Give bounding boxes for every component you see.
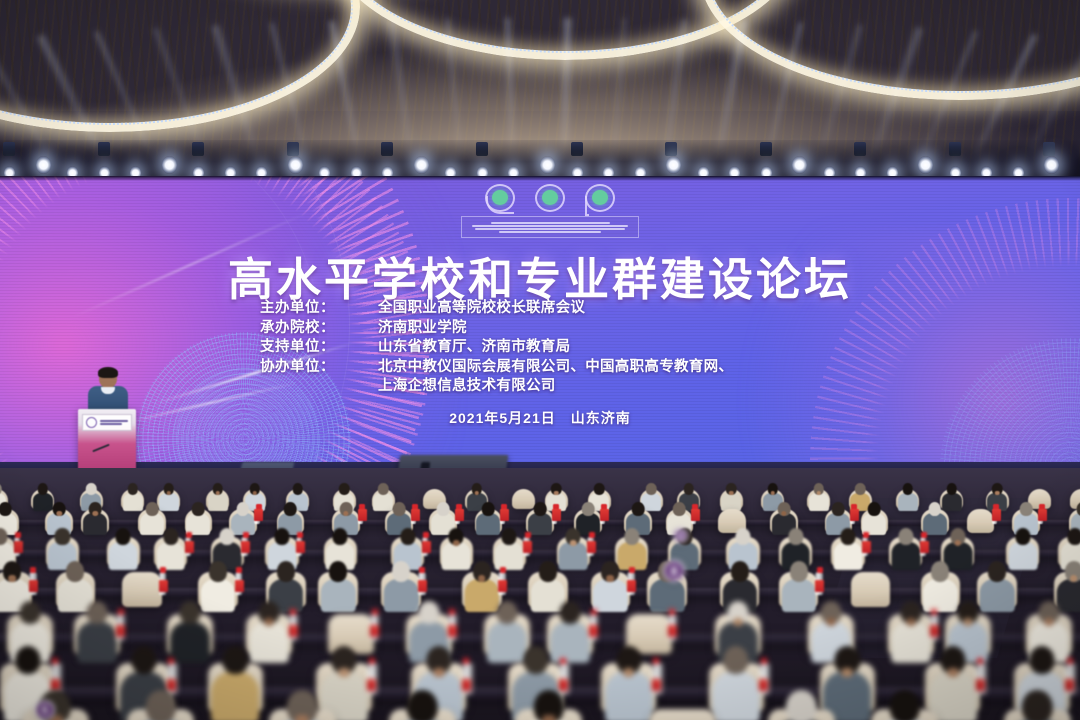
audience-chair	[649, 709, 716, 720]
audience-member-torso	[109, 542, 138, 569]
jcp-conference-logo	[455, 176, 645, 240]
water-bottle	[862, 537, 868, 556]
water-bottle	[159, 572, 167, 594]
audience-member	[319, 556, 357, 610]
water-bottle	[116, 614, 125, 640]
podium-microphone	[92, 444, 109, 453]
logo-glyph-j	[477, 178, 523, 218]
audience-member-neck	[253, 491, 258, 495]
audience-member-neck	[1070, 575, 1078, 582]
audience-member-head	[1029, 646, 1054, 674]
audience-member-torso	[528, 513, 552, 535]
audience-member-head	[646, 483, 657, 495]
audience-member	[890, 524, 922, 568]
seat-number-badge: 8	[663, 560, 685, 582]
credit-value: 济南职业学院	[378, 319, 467, 339]
truss-lamp	[36, 156, 51, 174]
audience-member-neck	[339, 668, 350, 678]
audience-member-neck	[771, 491, 776, 495]
truss-light-fixture	[949, 142, 961, 156]
logo-glyph-c	[527, 178, 573, 218]
truss-lamp	[918, 156, 933, 174]
water-bottle	[462, 663, 473, 694]
audience-member-head	[898, 528, 913, 545]
audience-member-head	[284, 502, 297, 516]
audience-member-neck	[607, 575, 615, 582]
audience-member	[527, 498, 553, 534]
audience-member-head	[339, 483, 350, 495]
truss-light-fixture	[854, 142, 866, 156]
credit-row: 协办单位：上海企想信息技术有限公司	[260, 377, 820, 397]
truss-light-fixture	[665, 142, 677, 156]
water-bottle	[14, 537, 20, 556]
audience-member-head	[292, 483, 303, 495]
truss-lamp	[792, 156, 807, 174]
audience-member	[832, 524, 864, 568]
audience-member-head	[277, 561, 295, 581]
audience-member-head	[832, 502, 845, 516]
audience-member-head	[220, 528, 235, 545]
water-bottle	[691, 509, 696, 525]
audience-member-head	[497, 601, 518, 625]
audience-member-head	[1020, 502, 1033, 516]
audience-member	[897, 480, 919, 510]
audience-member-head	[523, 646, 548, 674]
audience-member-head	[730, 561, 748, 581]
audience-member-head	[209, 561, 227, 581]
truss-lamp	[162, 156, 177, 174]
audience-member-head	[539, 561, 557, 581]
audience-member-neck	[1045, 618, 1054, 626]
audience-member-neck	[296, 715, 309, 720]
credit-label: 主办单位：	[260, 299, 378, 319]
credit-value: 全国职业高等院校校长联席会议	[378, 299, 585, 319]
conference-photo-scene: 高水平学校和专业群建设论坛 主办单位：全国职业高等院校校长联席会议承办院校：济南…	[0, 0, 1080, 720]
audience-member-neck	[995, 491, 1000, 495]
truss-lamp	[666, 156, 681, 174]
audience-member-head	[392, 561, 410, 581]
audience-member-head	[192, 502, 205, 516]
speaker-presenter	[88, 368, 128, 414]
audience-member-head	[407, 690, 437, 720]
water-bottle	[498, 572, 506, 594]
audience-member	[861, 498, 887, 534]
audience-member-torso	[321, 579, 355, 612]
audience-member-head	[0, 502, 11, 516]
audience-member-neck	[623, 668, 634, 678]
water-bottle	[185, 537, 191, 556]
audience-member-head	[482, 502, 495, 516]
audience-member-neck	[167, 491, 172, 495]
water-bottle	[422, 537, 428, 556]
audience-member-head	[560, 601, 581, 625]
audience-member-head	[947, 483, 958, 495]
water-bottle	[500, 509, 505, 525]
water-bottle	[448, 614, 457, 640]
audience-member-neck	[827, 618, 836, 626]
audience-member-head	[131, 646, 156, 674]
audience-member-torso	[211, 672, 259, 720]
water-bottle	[930, 614, 939, 640]
audience-member	[710, 638, 763, 720]
audience-member-neck	[433, 668, 444, 678]
audience-member-torso	[170, 622, 210, 663]
audience-member-neck	[842, 668, 853, 678]
audience-member-torso	[156, 542, 185, 569]
audience-member	[107, 524, 139, 568]
audience-member-head	[223, 646, 248, 674]
water-bottle	[235, 572, 243, 594]
audience-member	[1005, 680, 1069, 720]
audience-member-head	[333, 528, 348, 545]
truss-light-fixture	[1043, 142, 1055, 156]
audience-member-head	[786, 690, 816, 720]
audience-member-head	[735, 528, 750, 545]
audience-member-head	[329, 561, 347, 581]
audience-member-head	[928, 502, 941, 516]
audience-member-head	[673, 502, 686, 516]
audience-member-head	[594, 483, 605, 495]
audience-member-head	[502, 528, 517, 545]
water-bottle	[411, 509, 416, 525]
audience-member	[592, 556, 630, 610]
audience-member-neck	[729, 491, 734, 495]
audience-member	[129, 680, 193, 720]
audience-member-torso	[891, 542, 920, 569]
truss-lamp	[540, 156, 555, 174]
water-bottle	[367, 663, 378, 694]
water-bottle	[29, 572, 37, 594]
credit-label: 承办院校：	[260, 319, 378, 339]
audience-member-torso	[593, 579, 627, 612]
audience-chair	[851, 572, 891, 606]
speaker-hair	[98, 367, 118, 378]
water-bottle	[976, 663, 987, 694]
credit-row: 主办单位：全国职业高等院校校长联席会议	[260, 299, 820, 319]
audience-member-head	[393, 502, 406, 516]
credit-label: 协办单位：	[260, 358, 378, 378]
audience-member-head	[37, 483, 48, 495]
truss-lamp	[1044, 156, 1059, 174]
water-bottle	[254, 509, 259, 525]
truss-light-fixture	[381, 142, 393, 156]
audience-member-neck	[265, 618, 274, 626]
water-bottle	[668, 614, 677, 640]
audience-member-neck	[8, 575, 16, 582]
water-bottle	[241, 537, 247, 556]
podium	[78, 409, 136, 471]
audience-member-head	[684, 483, 695, 495]
truss-lamp	[414, 156, 429, 174]
audience-member	[390, 680, 454, 720]
audience-member-head	[931, 561, 949, 581]
credit-value: 北京中教仪国际会展有限公司、中国高职高专教育网、	[378, 358, 733, 378]
audience-member-head	[632, 502, 645, 516]
water-bottle	[455, 509, 460, 525]
water-bottle	[1038, 509, 1043, 525]
water-bottle	[358, 509, 363, 525]
audience-member-neck	[947, 668, 958, 678]
audience-member-head	[1022, 690, 1052, 720]
audience-member-torso	[650, 579, 684, 612]
plaque-text-lines	[100, 420, 128, 425]
truss-light-fixture	[287, 142, 299, 156]
truss-light-fixture	[98, 142, 110, 156]
credit-row: 支持单位：山东省教育厅、济南市教育局	[260, 338, 820, 358]
audience-member-head	[1067, 528, 1080, 545]
credit-row: 承办院校：济南职业学院	[260, 319, 820, 339]
audience-member-torso	[898, 493, 918, 512]
audience-member-torso	[77, 622, 117, 663]
logo-letterforms	[455, 176, 645, 220]
audience-member-head	[855, 483, 866, 495]
water-bottle	[850, 509, 855, 525]
audience-chair	[122, 572, 162, 606]
audience-member-head	[902, 483, 913, 495]
audience-member-head	[274, 528, 289, 545]
audience-member-torso	[834, 542, 863, 569]
audience-member	[602, 638, 655, 720]
audience-member-head	[582, 502, 595, 516]
audience-member-neck	[216, 491, 221, 495]
logo-glyph-p	[577, 178, 623, 218]
audience-member-head	[724, 646, 749, 674]
audience-member-head	[437, 502, 450, 516]
forum-credits: 主办单位：全国职业高等院校校长联席会议承办院校：济南职业学院支持单位：山东省教育…	[0, 299, 1080, 397]
audience-member-head	[868, 502, 881, 516]
truss-light-fixture	[571, 142, 583, 156]
audience-member-neck	[475, 491, 480, 495]
truss-light-fixture	[760, 142, 772, 156]
seat-number-badge: 6	[35, 700, 55, 720]
credit-row: 协办单位：北京中教仪国际会展有限公司、中国高职高专教育网、	[260, 358, 820, 378]
audience-member-head	[418, 601, 439, 625]
audience-member-head	[86, 601, 107, 625]
audience-member-head	[378, 483, 389, 495]
audience-member-torso	[712, 672, 760, 720]
credit-value: 山东省教育厅、济南市教育局	[378, 338, 570, 358]
audience-member	[873, 680, 937, 720]
audience-member-head	[988, 561, 1006, 581]
audience-member	[75, 594, 119, 660]
water-bottle	[627, 572, 635, 594]
water-bottle	[759, 663, 770, 694]
audience-member-torso	[83, 513, 107, 535]
audience-member	[24, 680, 88, 720]
audience-member-head	[163, 528, 178, 545]
audience-member-head	[86, 483, 97, 495]
audience-member-neck	[478, 575, 486, 582]
audience-area: 886	[0, 468, 1080, 720]
audience-member-head	[237, 502, 250, 516]
podium-plaque	[82, 414, 132, 431]
water-bottle	[552, 509, 557, 525]
water-bottle	[289, 614, 298, 640]
audience-member	[209, 638, 262, 720]
audience-member-head	[790, 561, 808, 581]
plaque-logo-icon	[86, 417, 97, 428]
audience-member-head	[116, 528, 131, 545]
audience-member-neck	[906, 618, 915, 626]
audience-member-head	[20, 601, 41, 625]
audience-member-head	[15, 646, 40, 674]
audience-member-neck	[733, 618, 742, 626]
water-bottle	[652, 663, 663, 694]
audience-member	[168, 594, 212, 660]
audience-member	[82, 498, 108, 534]
water-bottle	[587, 537, 593, 556]
audience-member-head	[145, 690, 175, 720]
audience-member-head	[127, 483, 138, 495]
audience-member-head	[179, 601, 200, 625]
audience-member-head	[66, 561, 84, 581]
audience-member-head	[840, 528, 855, 545]
audience-member-head	[624, 528, 639, 545]
audience-member	[155, 524, 187, 568]
audience-member	[270, 680, 334, 720]
audience-member	[517, 680, 581, 720]
audience-member-head	[534, 502, 547, 516]
credit-label: 支持单位：	[260, 338, 378, 358]
truss-light-fixture	[3, 142, 15, 156]
truss-light-fixture	[476, 142, 488, 156]
audience-member-torso	[891, 622, 931, 663]
water-bottle	[992, 509, 997, 525]
audience-member	[770, 680, 834, 720]
water-bottle	[296, 537, 302, 556]
water-bottle	[418, 572, 426, 594]
audience-member-head	[400, 528, 415, 545]
water-bottle	[815, 572, 823, 594]
water-bottle	[600, 509, 605, 525]
audience-member	[185, 498, 211, 534]
credit-value: 上海企想信息技术有限公司	[378, 377, 556, 397]
audience-member-head	[889, 690, 919, 720]
forum-date-location: 2021年5月21日 山东济南	[0, 408, 1080, 428]
audience-member-head	[1015, 528, 1030, 545]
logo-caption-block	[461, 216, 639, 238]
audience-member-neck	[817, 491, 822, 495]
audience-member	[720, 480, 742, 510]
audience-member-neck	[964, 618, 973, 626]
truss-lamp	[288, 156, 303, 174]
seat-number-badge: 8	[673, 528, 688, 543]
audience-member-torso	[605, 672, 653, 720]
truss-light-fixture	[192, 142, 204, 156]
audience-member-head	[788, 528, 803, 545]
audience-member-head	[146, 502, 159, 516]
water-bottle	[589, 614, 598, 640]
water-bottle	[523, 537, 529, 556]
audience-member-head	[55, 528, 70, 545]
audience-member-neck	[542, 715, 555, 720]
water-bottle	[370, 614, 379, 640]
audience-member-neck	[554, 491, 559, 495]
water-bottle	[920, 537, 926, 556]
